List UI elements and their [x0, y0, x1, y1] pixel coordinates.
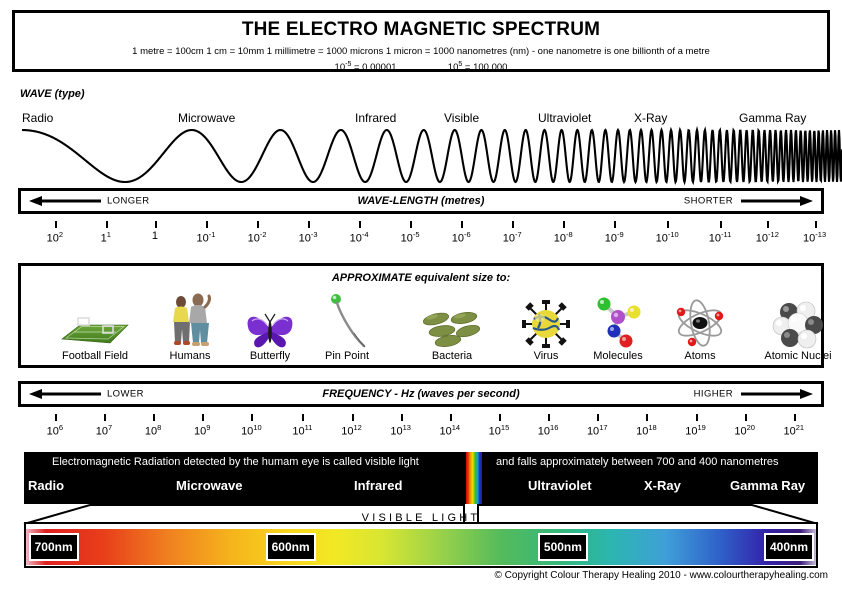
size-item-caption: Pin Point: [304, 349, 390, 363]
wavelength-tick-mark: [614, 221, 616, 228]
exp-pos-superscript: 5: [458, 61, 462, 68]
size-item-molecules: Molecules: [566, 291, 670, 363]
visible-spectrum-bar: 700nm600nm500nm400nm: [24, 522, 818, 568]
wavelength-marker-700nm: 700nm: [29, 533, 79, 561]
wavelength-tick-mark: [410, 221, 412, 228]
wave-type-infrared: Infrared: [355, 111, 396, 125]
wavelength-tick-mark: [359, 221, 361, 228]
size-item-caption: Football Field: [39, 349, 151, 363]
wave-type-heading: WAVE (type): [20, 88, 85, 100]
wavelength-tick-label: 10-10: [656, 230, 679, 245]
frequency-tick-mark: [794, 414, 796, 421]
humans-icon: [147, 291, 233, 349]
size-item-bacteria: Bacteria: [406, 291, 498, 363]
wavelength-tick-label: 11: [101, 230, 111, 245]
wavelength-tick-label: 10-8: [554, 230, 573, 245]
banner-type-ultraviolet: Ultraviolet: [528, 478, 592, 493]
wavelength-tick-mark: [308, 221, 310, 228]
wavelength-tick-label: 10-6: [452, 230, 471, 245]
frequency-tick-mark: [450, 414, 452, 421]
frequency-tick-label: 1021: [784, 423, 805, 438]
frequency-tick-label: 1010: [241, 423, 262, 438]
arrow-right-shorter-icon: [741, 196, 813, 206]
frequency-tick-mark: [597, 414, 599, 421]
wavelength-tick-label: 10-2: [248, 230, 267, 245]
size-item-caption: Humans: [147, 349, 233, 363]
size-item-caption: Molecules: [566, 349, 670, 363]
frequency-tick-label: 1017: [587, 423, 608, 438]
atoms-icon: [657, 291, 743, 349]
wavelength-bar: LONGER WAVE-LENGTH (metres) SHORTER: [18, 188, 824, 214]
football-field-icon: [39, 291, 151, 349]
wave-type-microwave: Microwave: [178, 111, 235, 125]
atomic-nuclei-icon: [743, 291, 842, 349]
wavelength-scale-ticks: 10211110-110-210-310-410-510-610-710-810…: [0, 221, 842, 249]
frequency-tick-label: 1013: [390, 423, 411, 438]
wavelength-tick-label: 102: [47, 230, 63, 245]
banner-type-radio: Radio: [28, 478, 64, 493]
frequency-tick-mark: [352, 414, 354, 421]
frequency-tick-mark: [302, 414, 304, 421]
banner-type-infrared: Infrared: [354, 478, 402, 493]
wavelength-tick-mark: [106, 221, 108, 228]
wavelength-tick-mark: [720, 221, 722, 228]
wave-type-labels: RadioMicrowaveInfraredVisibleUltraviolet…: [0, 111, 842, 127]
size-item-pin-point: Pin Point: [304, 291, 390, 363]
wavelength-tick-mark: [563, 221, 565, 228]
frequency-tick-mark: [55, 414, 57, 421]
molecules-icon: [566, 291, 670, 349]
wavelength-tick-mark: [55, 221, 57, 228]
wavelength-marker-400nm: 400nm: [764, 533, 814, 561]
butterfly-icon: [227, 291, 313, 349]
exp-neg-value: = 0.00001: [354, 62, 397, 73]
size-item-caption: Atomic Nuclei: [743, 349, 842, 363]
size-item-caption: Butterfly: [227, 349, 313, 363]
wavelength-tick-label: 10-5: [401, 230, 420, 245]
exp-neg-base: 10: [335, 62, 346, 73]
frequency-tick-label: 1011: [292, 423, 312, 438]
header-box: THE ELECTRO MAGNETIC SPECTRUM 1 metre = …: [12, 10, 830, 72]
wave-type-radio: Radio: [22, 111, 53, 125]
wavelength-tick-mark: [815, 221, 817, 228]
approximate-size-box: APPROXIMATE equivalent size to: Football…: [18, 263, 824, 368]
wave-type-x-ray: X-Ray: [634, 111, 667, 125]
frequency-tick-label: 108: [145, 423, 161, 438]
frequency-tick-label: 1012: [341, 423, 362, 438]
frequency-tick-label: 109: [194, 423, 210, 438]
banner-description-left: Electromagnetic Radiation detected by th…: [52, 456, 419, 468]
banner-type-x-ray: X-Ray: [644, 478, 681, 493]
wavelength-tick-label: 10-9: [605, 230, 624, 245]
frequency-tick-label: 107: [96, 423, 112, 438]
frequency-tick-mark: [401, 414, 403, 421]
size-item-football-field: Football Field: [39, 291, 151, 363]
frequency-tick-mark: [745, 414, 747, 421]
frequency-higher-label: HIGHER: [694, 389, 733, 400]
wavelength-marker-500nm: 500nm: [538, 533, 588, 561]
size-item-humans: Humans: [147, 291, 233, 363]
exp-neg-superscript: -5: [345, 61, 351, 68]
frequency-tick-label: 1015: [489, 423, 510, 438]
bacteria-icon: [406, 291, 498, 349]
banner-description-right: and falls approximately between 700 and …: [496, 456, 779, 468]
banner-type-gamma-ray: Gamma Ray: [730, 478, 805, 493]
size-item-butterfly: Butterfly: [227, 291, 313, 363]
frequency-scale-ticks: 1061071081091010101110121013101410151016…: [0, 414, 842, 442]
size-item-atoms: Atoms: [657, 291, 743, 363]
wavelength-tick-mark: [512, 221, 514, 228]
frequency-tick-label: 1016: [538, 423, 559, 438]
frequency-tick-mark: [153, 414, 155, 421]
sine-wave-graphic: [0, 126, 842, 188]
wavelength-tick-label: 10-7: [503, 230, 522, 245]
size-item-caption: Atoms: [657, 349, 743, 363]
arrow-right-higher-icon: [741, 389, 813, 399]
wavelength-tick-mark: [767, 221, 769, 228]
wavelength-tick-mark: [155, 221, 157, 228]
wavelength-tick-mark: [257, 221, 259, 228]
wavelength-tick-label: 10-11: [709, 230, 732, 245]
wavelength-tick-mark: [667, 221, 669, 228]
electromagnetic-spectrum-poster: THE ELECTRO MAGNETIC SPECTRUM 1 metre = …: [0, 0, 842, 595]
frequency-tick-mark: [104, 414, 106, 421]
size-item-atomic-nuclei: Atomic Nuclei: [743, 291, 842, 363]
page-title: THE ELECTRO MAGNETIC SPECTRUM: [21, 19, 821, 41]
frequency-tick-mark: [548, 414, 550, 421]
wave-type-gamma-ray: Gamma Ray: [739, 111, 806, 125]
frequency-tick-label: 1019: [685, 423, 706, 438]
wavelength-marker-600nm: 600nm: [266, 533, 316, 561]
wavelength-tick-label: 10-3: [299, 230, 318, 245]
size-item-caption: Bacteria: [406, 349, 498, 363]
banner-type-microwave: Microwave: [176, 478, 242, 493]
exponent-examples: 10-5 = 0.00001 105 = 100,000: [21, 61, 821, 73]
wavelength-shorter-label: SHORTER: [684, 196, 733, 207]
copyright-text: © Copyright Colour Therapy Healing 2010 …: [0, 570, 828, 581]
banner-spectrum-type-labels: RadioMicrowaveInfraredUltravioletX-RayGa…: [24, 478, 818, 498]
wavelength-tick-label: 1: [152, 230, 158, 242]
wavelength-tick-label: 10-13: [803, 230, 826, 245]
frequency-tick-mark: [202, 414, 204, 421]
frequency-tick-mark: [646, 414, 648, 421]
frequency-tick-label: 1018: [636, 423, 657, 438]
wavelength-tick-label: 10-1: [197, 230, 216, 245]
exp-pos-base: 10: [448, 62, 459, 73]
frequency-tick-mark: [696, 414, 698, 421]
wave-type-ultraviolet: Ultraviolet: [538, 111, 591, 125]
frequency-tick-label: 1020: [734, 423, 755, 438]
wavelength-tick-label: 10-12: [756, 230, 779, 245]
frequency-tick-label: 1014: [440, 423, 461, 438]
frequency-tick-mark: [251, 414, 253, 421]
visible-light-banner: Electromagnetic Radiation detected by th…: [24, 452, 818, 504]
frequency-bar: LOWER FREQUENCY - Hz (waves per second) …: [18, 381, 824, 407]
wave-type-visible: Visible: [444, 111, 479, 125]
unit-conversions-text: 1 metre = 100cm 1 cm = 10mm 1 millimetre…: [21, 46, 821, 57]
wavelength-tick-label: 10-4: [350, 230, 369, 245]
frequency-tick-mark: [499, 414, 501, 421]
pin-point-icon: [304, 291, 390, 349]
exp-pos-value: = 100,000: [465, 62, 508, 73]
wavelength-tick-mark: [461, 221, 463, 228]
frequency-tick-label: 106: [47, 423, 63, 438]
wavelength-tick-mark: [206, 221, 208, 228]
